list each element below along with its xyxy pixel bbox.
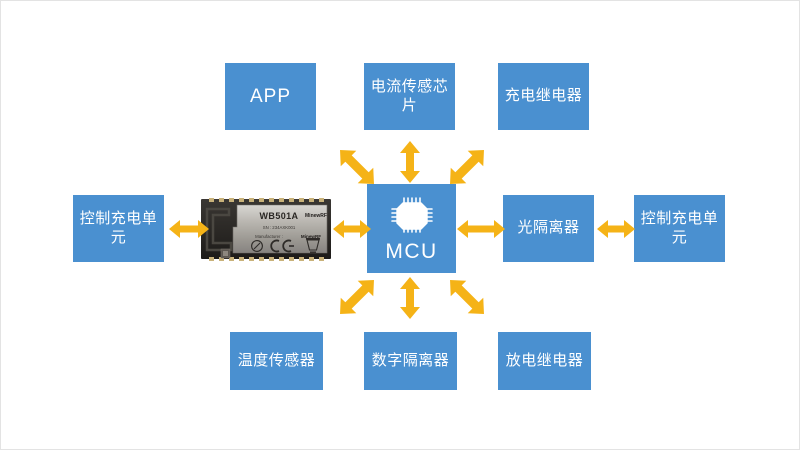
block-temperature-sensor-label: 温度传感器 — [236, 352, 317, 371]
arrow-mcu-to-optical-isolator — [455, 217, 507, 241]
block-current-sensor-chip[interactable]: 电流传感芯片 — [364, 63, 455, 130]
block-mcu-label: MCU — [385, 239, 437, 265]
arrow-optical-isolator-to-control-right — [595, 217, 637, 241]
block-app-label: APP — [231, 85, 310, 109]
block-control-charge-unit-right[interactable]: 控制充电单元 — [634, 195, 725, 262]
block-current-sensor-chip-label: 电流传感芯片 — [370, 78, 449, 116]
block-discharge-relay[interactable]: 放电继电器 — [498, 332, 591, 390]
arrow-current-sensor-to-mcu — [397, 139, 423, 185]
svg-text:WB501A: WB501A — [260, 211, 299, 221]
block-app[interactable]: APP — [225, 63, 316, 130]
arrow-mcu-to-digital-isolator — [397, 275, 423, 321]
block-digital-isolator[interactable]: 数字隔离器 — [364, 332, 457, 390]
block-digital-isolator-label: 数字隔离器 — [370, 352, 451, 371]
microchip-icon — [389, 195, 435, 237]
arrow-mcu-to-temperature-sensor — [327, 273, 387, 321]
block-temperature-sensor[interactable]: 温度传感器 — [230, 332, 323, 390]
arrow-mcu-to-discharge-relay — [437, 273, 497, 321]
block-control-charge-unit-right-label: 控制充电单元 — [640, 210, 719, 248]
block-optical-isolator[interactable]: 光隔离器 — [503, 195, 594, 262]
diagram-canvas: APP 电流传感芯片 充电继电器 控制充电单元 — [0, 0, 800, 450]
svg-text:Manufacturer :: Manufacturer : — [255, 234, 283, 239]
block-discharge-relay-label: 放电继电器 — [504, 352, 585, 371]
block-optical-isolator-label: 光隔离器 — [509, 219, 588, 238]
wb501a-module-photo: WB501A MinewRF SN : 234AXK001 Manufactur… — [199, 193, 333, 267]
block-control-charge-unit-left[interactable]: 控制充电单元 — [73, 195, 164, 262]
svg-text:MinewRF: MinewRF — [305, 213, 327, 219]
block-mcu[interactable]: MCU — [367, 184, 456, 273]
svg-text:SN : 234AXK001: SN : 234AXK001 — [263, 225, 296, 230]
block-charge-relay-label: 充电继电器 — [504, 87, 583, 106]
block-charge-relay[interactable]: 充电继电器 — [498, 63, 589, 130]
block-control-charge-unit-left-label: 控制充电单元 — [79, 210, 158, 248]
